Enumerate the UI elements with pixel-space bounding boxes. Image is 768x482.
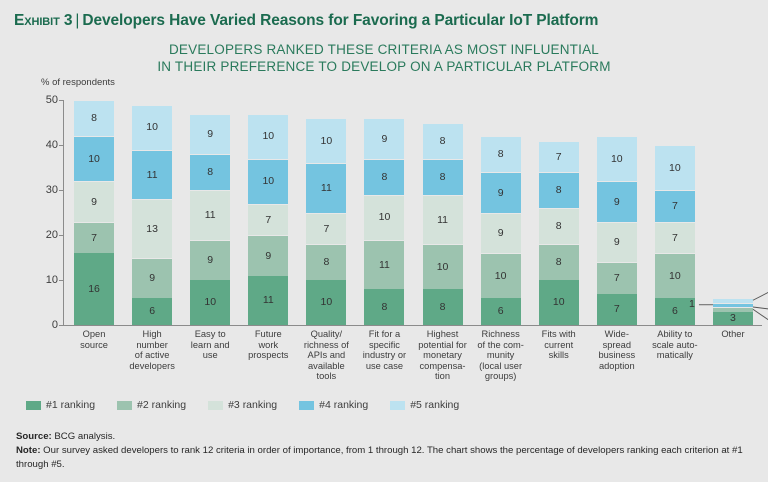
legend-item[interactable]: #4 ranking xyxy=(299,399,368,411)
footnote-note-text: Our survey asked developers to rank 12 c… xyxy=(16,445,743,469)
y-axis-tick-mark xyxy=(59,190,63,191)
bar-segment[interactable]: 6 xyxy=(655,298,695,325)
bar-segment-value: 11 xyxy=(437,215,448,226)
bar-segment[interactable]: 10 xyxy=(132,105,172,150)
legend-swatch xyxy=(390,401,405,410)
bar-stack[interactable]: 1679108 xyxy=(74,100,114,325)
legend-label: #2 ranking xyxy=(137,399,186,411)
bar-segment[interactable]: 8 xyxy=(364,159,404,195)
bar-segment-value: 10 xyxy=(495,271,507,282)
legend-label: #5 ranking xyxy=(410,399,459,411)
title-divider: | xyxy=(72,12,82,29)
bar-segment[interactable]: 13 xyxy=(132,199,172,258)
bar-segment-value: 10 xyxy=(146,122,158,133)
bar-segment-value: 10 xyxy=(611,154,623,165)
bar-segment[interactable]: 10 xyxy=(248,159,288,204)
chart-subtitle-line-2: IN THEIR PREFERENCE TO DEVELOP ON A PART… xyxy=(0,59,768,76)
bar-stack[interactable]: 31011 xyxy=(713,298,753,325)
bar-segment-value: 3 xyxy=(730,313,736,324)
legend-swatch xyxy=(299,401,314,410)
bar-segment[interactable]: 10 xyxy=(74,136,114,181)
bar-segment[interactable]: 9 xyxy=(597,181,637,222)
bar-segment[interactable]: 9 xyxy=(74,181,114,222)
bar-segment-value: 8 xyxy=(556,185,562,196)
bar-segment[interactable]: 11 xyxy=(423,195,463,245)
bar-segment[interactable]: 8 xyxy=(539,172,579,208)
bar-segment-value: 10 xyxy=(379,212,391,223)
bar-segment-value: 9 xyxy=(265,251,271,262)
bar-segment-value: 7 xyxy=(672,233,678,244)
x-axis-category-label: Wide-spreadbusinessadoption xyxy=(584,329,650,371)
bar-segment[interactable]: 3 xyxy=(713,312,753,326)
bar-segment[interactable]: 7 xyxy=(539,141,579,173)
y-axis-tick-label: 20 xyxy=(36,229,58,241)
legend-item[interactable]: #2 ranking xyxy=(117,399,186,411)
legend-swatch xyxy=(26,401,41,410)
x-axis-category-label: Fit for aspecificindustry oruse case xyxy=(351,329,417,371)
exhibit-label: Exhibit 3 xyxy=(14,12,72,29)
bar-segment[interactable]: 8 xyxy=(423,159,463,195)
bar-segment-value: 10 xyxy=(262,176,274,187)
bar-segment[interactable]: 9 xyxy=(597,222,637,263)
bar-segment-value: 11 xyxy=(321,183,332,194)
bar-segment[interactable]: 7 xyxy=(597,262,637,294)
bar-segment-value: 8 xyxy=(91,113,97,124)
y-axis-tick-label: 0 xyxy=(36,319,58,331)
bar-segment-value: 9 xyxy=(382,134,388,145)
bar-stack[interactable]: 610998 xyxy=(481,136,521,325)
legend-swatch xyxy=(117,401,132,410)
bar-segment-value: 10 xyxy=(321,136,333,147)
y-axis-tick-label: 10 xyxy=(36,274,58,286)
bar-segment[interactable]: 10 xyxy=(423,244,463,289)
legend-label: #3 ranking xyxy=(228,399,277,411)
bar-segment-value: 8 xyxy=(440,172,446,183)
bar-segment[interactable]: 9 xyxy=(190,240,230,281)
bar-segment[interactable]: 8 xyxy=(364,289,404,325)
bar-stack[interactable]: 11971010 xyxy=(248,114,288,326)
bar-segment-value: 8 xyxy=(382,172,388,183)
bar-segment[interactable]: 9 xyxy=(190,114,230,155)
bar-segment-value: 9 xyxy=(614,197,620,208)
bar-segment-value: 8 xyxy=(207,167,213,178)
bar-segment[interactable]: 10 xyxy=(306,280,346,325)
y-axis-tick-mark xyxy=(59,145,63,146)
bar-segment[interactable]: 10 xyxy=(364,195,404,240)
bar-segment-value: 9 xyxy=(91,197,97,208)
bar-segment-value: 9 xyxy=(614,237,620,248)
bar-segment[interactable]: 10 xyxy=(655,253,695,298)
y-axis-tick-mark xyxy=(59,325,63,326)
bar-segment-value: 7 xyxy=(265,215,271,226)
bar-segment-value: 16 xyxy=(88,284,100,295)
bar-segment-value: 10 xyxy=(88,154,100,165)
bar-segment-value: 7 xyxy=(323,224,329,235)
page-title: Exhibit 3|Developers Have Varied Reasons… xyxy=(14,12,754,30)
bar-segment[interactable]: 10 xyxy=(597,136,637,181)
footnote-source: Source: BCG analysis. xyxy=(16,430,752,443)
bar-segment-value: 10 xyxy=(204,297,216,308)
bar-segment-value: 8 xyxy=(440,136,446,147)
bar-segment-value: 8 xyxy=(323,257,329,268)
legend-label: #1 ranking xyxy=(46,399,95,411)
bar-stack[interactable]: 10871110 xyxy=(306,118,346,325)
legend-item[interactable]: #3 ranking xyxy=(208,399,277,411)
bar-segment[interactable]: 8 xyxy=(190,154,230,190)
x-axis-category-label: Highestpotential formonetarycompensa-tio… xyxy=(410,329,476,382)
bar-segment-value: 6 xyxy=(672,306,678,317)
bar-segment[interactable]: 9 xyxy=(248,235,288,276)
bar-segment[interactable]: 10 xyxy=(539,280,579,325)
bar-segment[interactable]: 11 xyxy=(364,240,404,290)
x-axis-category-label: Opensource xyxy=(61,329,127,350)
y-axis-tick-label: 50 xyxy=(36,94,58,106)
chart-legend: #1 ranking#2 ranking#3 ranking#4 ranking… xyxy=(26,399,481,411)
bar-segment-value: 7 xyxy=(672,201,678,212)
bar-segment[interactable]: 10 xyxy=(248,114,288,159)
footnote-source-text: BCG analysis. xyxy=(52,431,115,442)
bar-segment[interactable]: 6 xyxy=(481,298,521,325)
bar-segment-value: 6 xyxy=(498,306,504,317)
bar-segment-value: 8 xyxy=(440,302,446,313)
x-axis-category-label: Fits withcurrentskills xyxy=(526,329,592,361)
bar-segment-value: 8 xyxy=(382,302,388,313)
bar-segment[interactable]: 6 xyxy=(132,298,172,325)
exhibit-header: Exhibit 3|Developers Have Varied Reasons… xyxy=(14,12,754,36)
bar-segment[interactable]: 9 xyxy=(481,213,521,254)
bar-segment-value: 13 xyxy=(146,224,158,235)
bar-segment[interactable]: 1 xyxy=(713,307,753,312)
x-axis-category-label: Easy tolearn anduse xyxy=(177,329,243,361)
y-axis-tick-mark xyxy=(59,235,63,236)
bar-segment[interactable]: 10 xyxy=(190,280,230,325)
legend-item[interactable]: #5 ranking xyxy=(390,399,459,411)
bar-segment-value: 10 xyxy=(669,163,681,174)
bar-segment-value: 10 xyxy=(437,262,449,273)
legend-swatch xyxy=(208,401,223,410)
bar-stack[interactable]: 6107710 xyxy=(655,145,695,325)
bar-segment-value: 9 xyxy=(207,255,213,266)
bar-segment[interactable]: 8 xyxy=(539,208,579,244)
x-axis-category-label: Futureworkprospects xyxy=(235,329,301,361)
bar-stack[interactable]: 8111089 xyxy=(364,118,404,325)
footnotes: Source: BCG analysis. Note: Our survey a… xyxy=(16,430,752,472)
y-axis-tick-label: 40 xyxy=(36,139,58,151)
chart-subtitle-line-1: DEVELOPERS RANKED THESE CRITERIA AS MOST… xyxy=(0,42,768,59)
x-axis-category-label: Ability toscale auto-matically xyxy=(642,329,708,361)
bar-segment-value: 11 xyxy=(147,170,158,181)
y-axis-tick-mark xyxy=(59,100,63,101)
bar-segment[interactable]: 10 xyxy=(655,145,695,190)
bar-segment[interactable]: 7 xyxy=(74,222,114,254)
bar-segment-value: 7 xyxy=(614,304,620,315)
bar-segment[interactable]: 7 xyxy=(306,213,346,245)
bar-segment[interactable]: 11 xyxy=(190,190,230,240)
bar-segment-value: 10 xyxy=(321,297,333,308)
bar-segment[interactable]: 8 xyxy=(306,244,346,280)
bar-segment-value: 8 xyxy=(556,221,562,232)
bar-segment-value: 6 xyxy=(149,306,155,317)
bar-segment[interactable]: 1 xyxy=(713,298,753,303)
bar-segment-value: 11 xyxy=(205,210,216,221)
chart-subtitle: DEVELOPERS RANKED THESE CRITERIA AS MOST… xyxy=(0,42,768,75)
bar-segment[interactable]: 9 xyxy=(481,172,521,213)
bar-segment[interactable]: 7 xyxy=(655,222,695,254)
bar-segment-value: 8 xyxy=(498,149,504,160)
bar-segment[interactable]: 11 xyxy=(306,163,346,213)
x-axis-category-label: Highnumberof activedevelopers xyxy=(119,329,185,371)
bar-segment-value: 9 xyxy=(498,228,504,239)
bar-stack[interactable]: 779910 xyxy=(597,136,637,325)
bar-segment[interactable]: 10 xyxy=(481,253,521,298)
bar-stack[interactable]: 108887 xyxy=(539,141,579,326)
bar-segment[interactable]: 9 xyxy=(132,258,172,299)
bar-segment-value: 7 xyxy=(614,273,620,284)
bar-segment-value: 10 xyxy=(553,297,565,308)
bar-segment-value: 9 xyxy=(498,188,504,199)
x-axis-category-label: Other xyxy=(700,329,766,340)
bar-segment[interactable]: 7 xyxy=(597,294,637,326)
bar-segment-value: 9 xyxy=(149,273,155,284)
bar-segment[interactable]: 8 xyxy=(423,123,463,159)
bar-stack[interactable]: 8101188 xyxy=(423,123,463,326)
legend-label: #4 ranking xyxy=(319,399,368,411)
bar-segment[interactable]: 0 xyxy=(713,306,753,307)
footnote-note-label: Note: xyxy=(16,445,41,456)
bar-stack[interactable]: 1091189 xyxy=(190,114,230,326)
bar-segment[interactable]: 11 xyxy=(132,150,172,200)
bar-segment[interactable]: 7 xyxy=(248,204,288,236)
bar-segment[interactable]: 16 xyxy=(74,253,114,325)
bar-segment-value: 11 xyxy=(379,260,390,271)
y-axis-line xyxy=(63,100,64,326)
bar-segment[interactable]: 8 xyxy=(74,100,114,136)
x-axis-line xyxy=(63,325,762,326)
bar-segment[interactable]: 10 xyxy=(306,118,346,163)
bar-segment-value: 7 xyxy=(91,233,97,244)
y-axis-unit-label: % of respondents xyxy=(41,77,115,88)
bar-segment-value: 10 xyxy=(669,271,681,282)
footnote-source-label: Source: xyxy=(16,431,52,442)
bar-segment[interactable]: 11 xyxy=(248,276,288,326)
legend-item[interactable]: #1 ranking xyxy=(26,399,95,411)
y-axis-tick-label: 30 xyxy=(36,184,58,196)
bar-segment[interactable]: 7 xyxy=(655,190,695,222)
bar-segment-value: 7 xyxy=(556,152,562,163)
bar-segment[interactable]: 1 xyxy=(713,303,753,308)
bar-segment-value: 8 xyxy=(556,257,562,268)
footnote-note: Note: Our survey asked developers to ran… xyxy=(16,444,752,471)
bar-segment[interactable]: 8 xyxy=(423,289,463,325)
bar-stack[interactable]: 69131110 xyxy=(132,105,172,326)
y-axis-tick-mark xyxy=(59,280,63,281)
bar-segment-value: 9 xyxy=(207,129,213,140)
bar-segment[interactable]: 9 xyxy=(364,118,404,159)
callout-value-left: 1 xyxy=(689,298,695,310)
exhibit-title-text: Developers Have Varied Reasons for Favor… xyxy=(82,12,598,29)
bar-segment-value: 11 xyxy=(263,295,274,306)
bar-segment[interactable]: 8 xyxy=(539,244,579,280)
bar-segment-value: 10 xyxy=(262,131,274,142)
bar-segment[interactable]: 8 xyxy=(481,136,521,172)
x-axis-category-label: Quality/richness ofAPIs andavailabletool… xyxy=(293,329,359,382)
x-axis-category-label: Richnessof the com-munity(local usergrou… xyxy=(468,329,534,382)
